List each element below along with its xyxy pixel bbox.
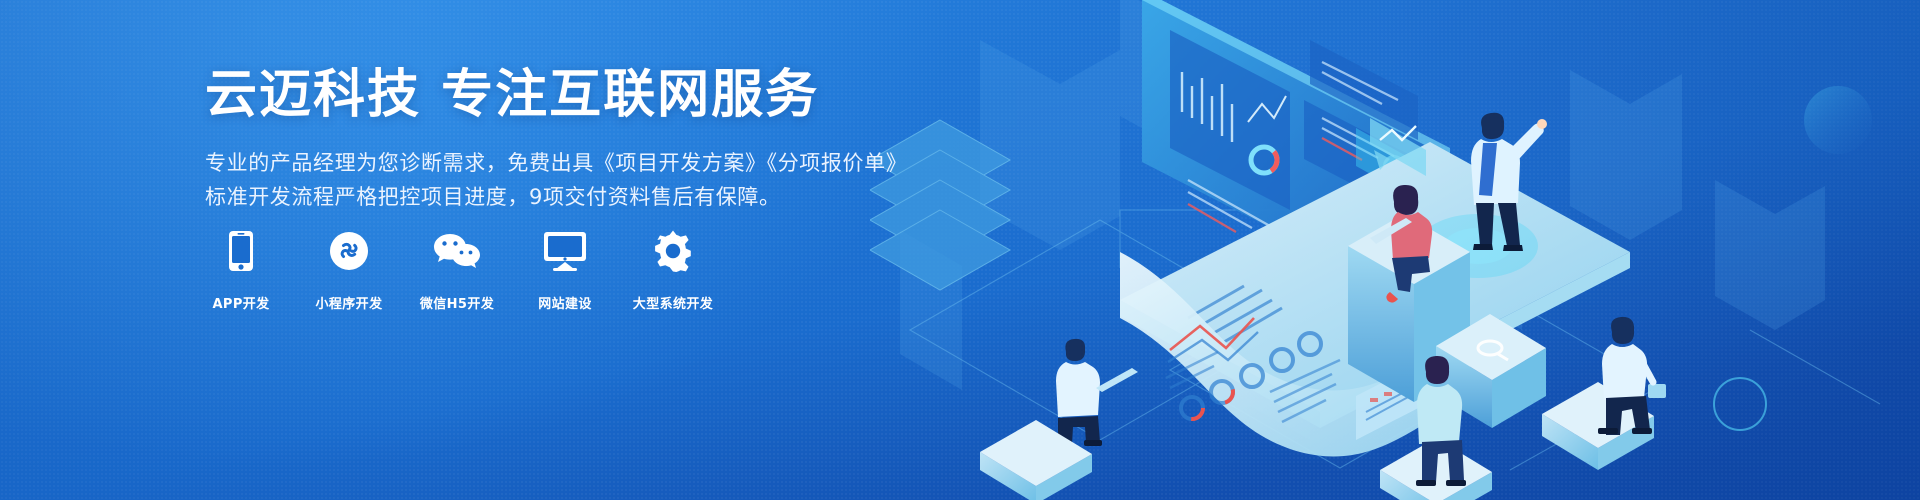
desktop-monitor-icon (543, 228, 587, 274)
mobile-phone-icon (228, 228, 254, 274)
mini-program-icon (329, 228, 369, 274)
seated-person-laptop-left (1052, 339, 1138, 446)
gear-icon (652, 228, 694, 274)
banner-subtitle: 专业的产品经理为您诊断需求，免费出具《项目开发方案》《分项报价单》 标准开发流程… (205, 146, 965, 214)
service-label: 网站建设 (538, 293, 592, 312)
service-item-large-system[interactable]: 大型系统开发 (637, 228, 709, 312)
wechat-bubbles-icon (433, 228, 481, 274)
page-title: 云迈科技 专注互联网服务 (205, 66, 965, 124)
service-item-wechat-h5[interactable]: 微信H5开发 (421, 228, 493, 312)
service-label: 小程序开发 (315, 293, 382, 312)
service-item-app[interactable]: APP开发 (205, 228, 277, 312)
service-label: APP开发 (212, 293, 269, 312)
service-label: 微信H5开发 (420, 293, 494, 312)
service-item-website[interactable]: 网站建设 (529, 228, 601, 312)
service-list: APP开发 小程序开发 (205, 228, 709, 312)
hero-banner: 云迈科技 专注互联网服务 专业的产品经理为您诊断需求，免费出具《项目开发方案》《… (0, 0, 1920, 500)
isometric-tech-illustration (870, 0, 1920, 500)
subtitle-line-2: 标准开发流程严格把控项目进度，9项交付资料售后有保障。 (205, 180, 965, 214)
service-item-mini-program[interactable]: 小程序开发 (313, 228, 385, 312)
service-label: 大型系统开发 (633, 293, 713, 312)
subtitle-line-1: 专业的产品经理为您诊断需求，免费出具《项目开发方案》《分项报价单》 (205, 146, 965, 180)
seated-person-talking (980, 420, 1092, 500)
banner-copy: 云迈科技 专注互联网服务 专业的产品经理为您诊断需求，免费出具《项目开发方案》《… (205, 66, 965, 214)
